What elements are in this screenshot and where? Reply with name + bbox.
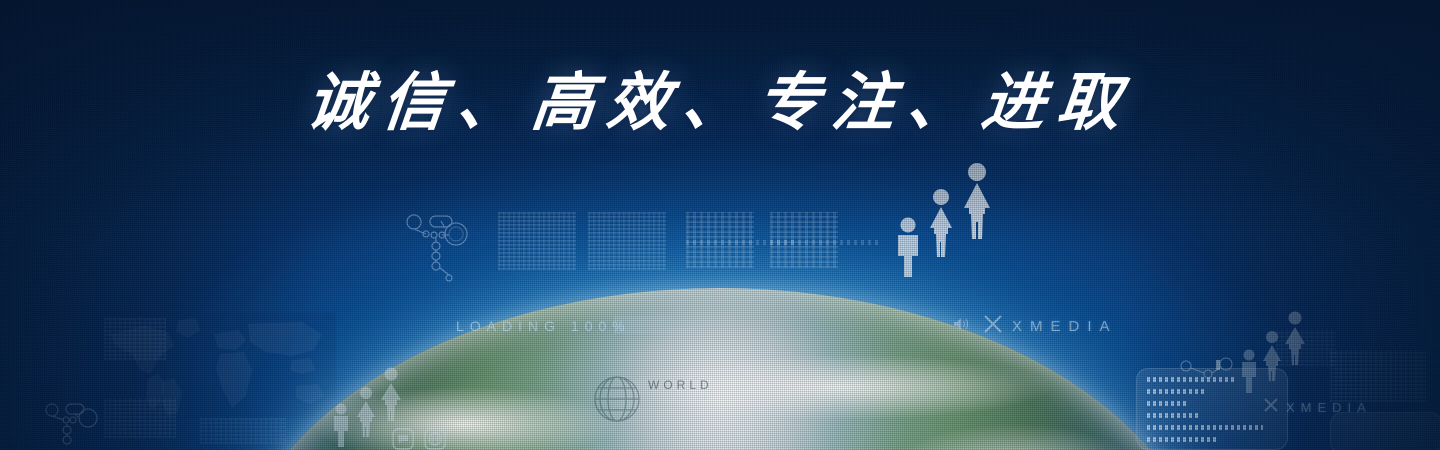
network-node-graph bbox=[40, 396, 112, 450]
figure-female-large bbox=[956, 162, 998, 240]
hero-banner: WORLD LOADING 100% XMEDIA XMEDIA bbox=[0, 0, 1440, 450]
page-title: 诚信、高效、专注、进取 bbox=[0, 52, 1440, 143]
data-block bbox=[1330, 350, 1426, 402]
data-block bbox=[104, 318, 166, 360]
data-bar bbox=[686, 240, 796, 245]
data-bar bbox=[770, 240, 882, 245]
figure-female-medium bbox=[922, 188, 960, 258]
secondary-panel[interactable] bbox=[1330, 412, 1440, 450]
